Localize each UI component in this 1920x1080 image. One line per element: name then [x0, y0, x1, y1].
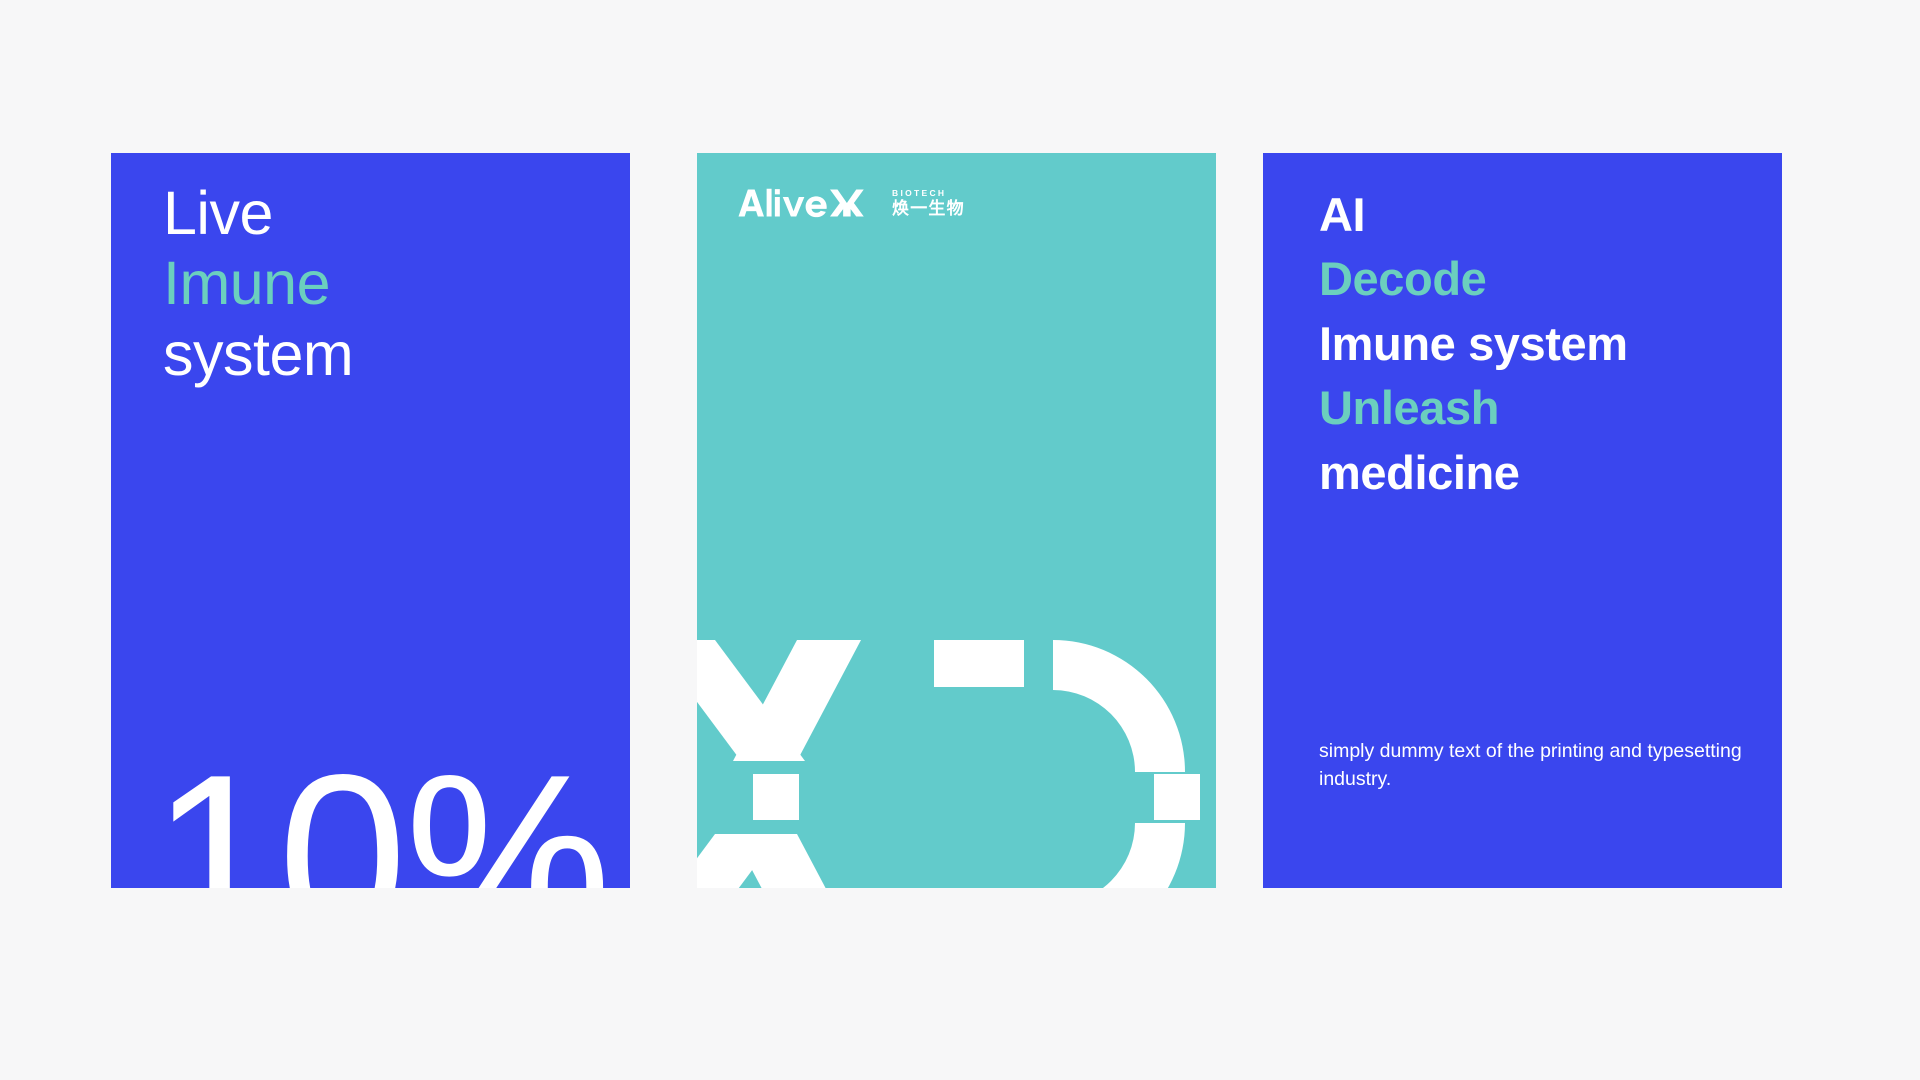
logo-tagline-biotech: BIOTECH	[892, 189, 965, 198]
headline-line-system: system	[163, 319, 353, 389]
headline-line-ai: AI	[1319, 183, 1628, 247]
poster-ai-body-copy: simply dummy text of the printing and ty…	[1319, 737, 1769, 793]
poster-showcase-canvas: Live Imune system 10%	[0, 0, 1920, 1080]
logo-chinese-name: 焕一生物	[892, 201, 965, 218]
headline-line-medicine: medicine	[1319, 441, 1628, 505]
headline-line-live: Live	[163, 178, 353, 248]
poster-live-headline: Live Imune system	[163, 178, 353, 389]
statistic-10-percent: 10%	[151, 741, 609, 888]
poster-ai-headline: AI Decode Imune system Unleash medicine	[1319, 183, 1628, 505]
poster-ai-decode-medicine[interactable]: AI Decode Imune system Unleash medicine …	[1263, 153, 1782, 888]
alivex-monogram-graphic	[697, 153, 1216, 888]
alivex-logo-lockup[interactable]: BIOTECH 焕一生物	[737, 185, 965, 221]
alivex-logo-text-group: BIOTECH 焕一生物	[892, 188, 965, 218]
headline-line-decode: Decode	[1319, 247, 1628, 311]
alivex-wordmark-icon	[737, 188, 884, 218]
poster-alivex-monogram[interactable]: BIOTECH 焕一生物	[697, 153, 1216, 888]
headline-line-imune-system: Imune system	[1319, 312, 1628, 376]
poster-live-imune-system[interactable]: Live Imune system 10%	[111, 153, 630, 888]
headline-line-imune: Imune	[163, 248, 353, 318]
headline-line-unleash: Unleash	[1319, 376, 1628, 440]
